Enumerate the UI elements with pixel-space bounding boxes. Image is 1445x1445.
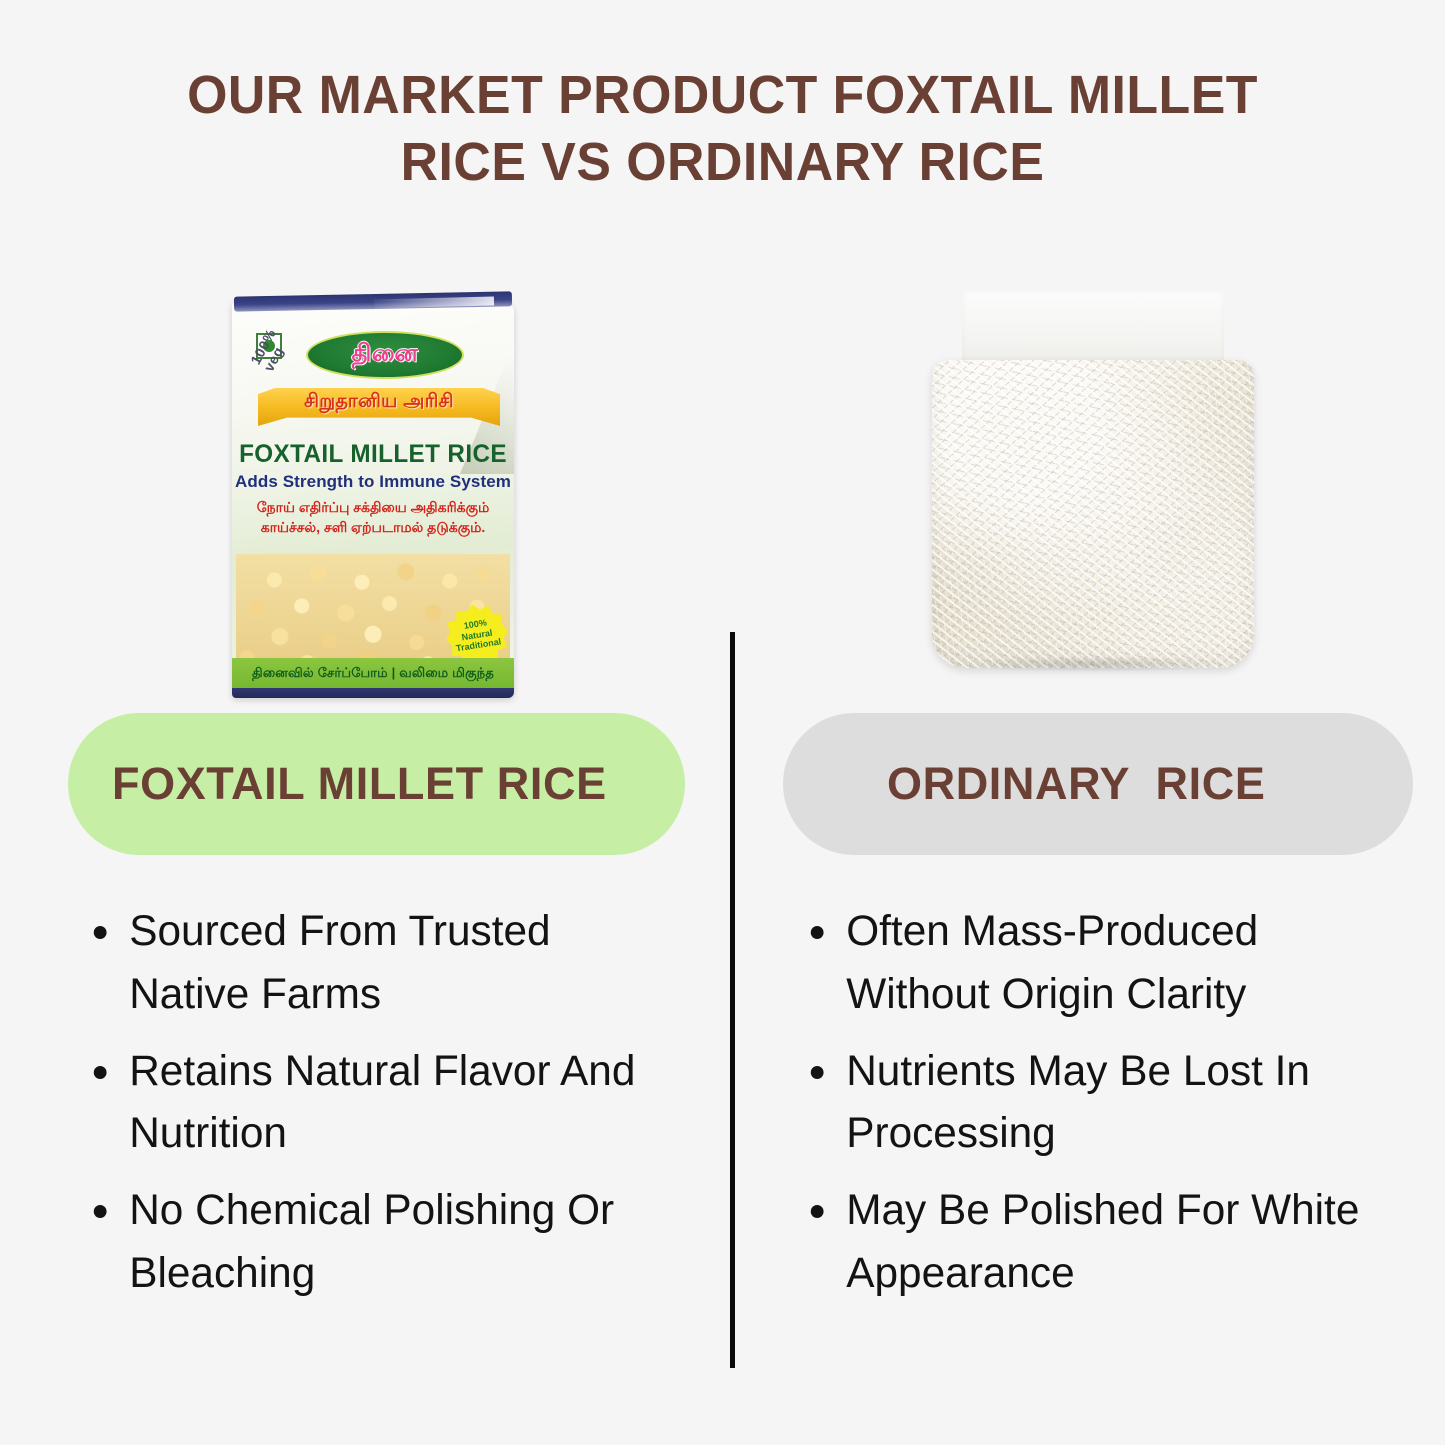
- brand-name-text: தினை: [352, 340, 419, 370]
- package-ribbon-banner: சிறுதானிய அரிசி: [258, 388, 500, 426]
- foxtail-millet-package-image: 100% veg தினை சிறுதானிய அரிசி FOXTAIL MI…: [224, 284, 522, 706]
- package-footer-text: தினைவில் சேர்ப்போம் | வலிமை மிகுந்த: [252, 665, 494, 682]
- list-item: Retains Natural Flavor And Nutrition: [78, 1040, 669, 1166]
- package-percent-label: 100% veg: [248, 327, 292, 374]
- brand-logo-oval: தினை: [306, 331, 464, 379]
- package-tamil-description: நோய் எதிர்ப்பு சக்தியை அதிகரிக்கும் காய்…: [232, 498, 514, 538]
- ordinary-rice-bag-image: [928, 290, 1258, 668]
- package-body: 100% veg தினை சிறுதானிய அரிசி FOXTAIL MI…: [232, 302, 514, 698]
- list-item: Nutrients May Be Lost In Processing: [795, 1040, 1386, 1166]
- list-item: Sourced From Trusted Native Farms: [78, 900, 669, 1026]
- rice-bag-body: [932, 360, 1254, 668]
- badge-text: 100% Natural Traditional: [452, 616, 502, 655]
- ordinary-rice-heading-pill: ORDINARY RICE: [783, 713, 1413, 855]
- infographic-canvas: OUR MARKET PRODUCT FOXTAIL MILLET RICE V…: [0, 0, 1445, 1445]
- rice-grains-texture: [932, 360, 1254, 668]
- package-bottom-seal: [232, 688, 514, 698]
- foxtail-millet-rice-heading-pill: FOXTAIL MILLET RICE: [68, 713, 685, 855]
- vertical-divider: [730, 632, 735, 1368]
- list-item: No Chemical Polishing Or Bleaching: [78, 1179, 669, 1305]
- ribbon-tamil-text: சிறுதானிய அரிசி: [304, 391, 454, 415]
- list-item: Often Mass-Produced Without Origin Clari…: [795, 900, 1386, 1026]
- package-footer-band: தினைவில் சேர்ப்போம் | வலிமை மிகுந்த: [232, 658, 514, 688]
- page-title: OUR MARKET PRODUCT FOXTAIL MILLET RICE V…: [29, 62, 1416, 196]
- package-product-name: FOXTAIL MILLET RICE: [236, 440, 510, 469]
- rice-bag-shadow: [958, 656, 1228, 672]
- ordinary-rice-drawbacks-list: Often Mass-Produced Without Origin Clari…: [795, 900, 1395, 1319]
- list-item: May Be Polished For White Appearance: [795, 1179, 1386, 1305]
- package-tagline: Adds Strength to Immune System: [232, 472, 514, 492]
- foxtail-millet-benefits-list: Sourced From Trusted Native Farms Retain…: [78, 900, 678, 1319]
